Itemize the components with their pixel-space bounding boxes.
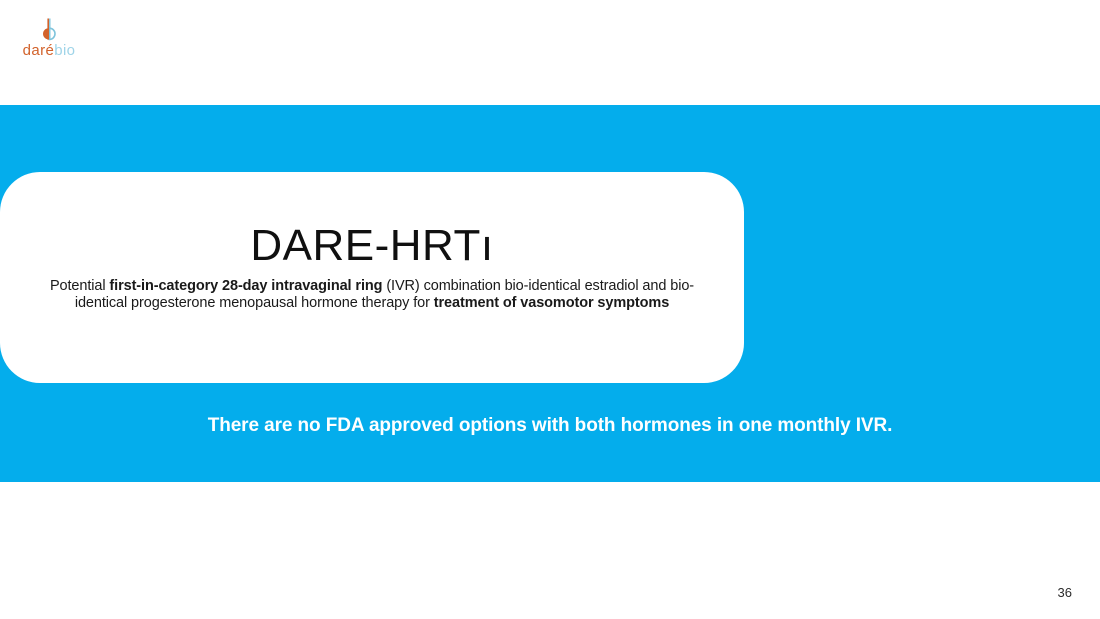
slide-canvas: darébio DARE-HRTı Potential first-in-cat… <box>0 0 1100 619</box>
statement-text: There are no FDA approved options with b… <box>0 413 1100 439</box>
dare-bio-logo: darébio <box>17 17 81 59</box>
logo-word-dare: daré <box>23 42 55 59</box>
logo-word-bio: bio <box>54 42 75 59</box>
card-subtitle: Potential first-in-category 28-day intra… <box>27 278 717 312</box>
dare-bio-d-b-monogram-icon <box>34 17 64 42</box>
blue-band: DARE-HRTı Potential first-in-category 28… <box>0 105 1100 482</box>
dare-bio-wordmark: darébio <box>17 43 81 59</box>
title-card: DARE-HRTı Potential first-in-category 28… <box>0 172 744 383</box>
subtitle-seg-1: Potential <box>50 278 109 294</box>
page-number: 36 <box>1058 585 1072 600</box>
page-title: DARE-HRTı <box>0 220 744 272</box>
title-card-content: DARE-HRTı Potential first-in-category 28… <box>0 220 744 312</box>
subtitle-seg-2-bold: first-in-category 28-day intravaginal ri… <box>109 278 382 294</box>
subtitle-seg-4-bold: treatment of vasomotor symptoms <box>434 295 669 311</box>
